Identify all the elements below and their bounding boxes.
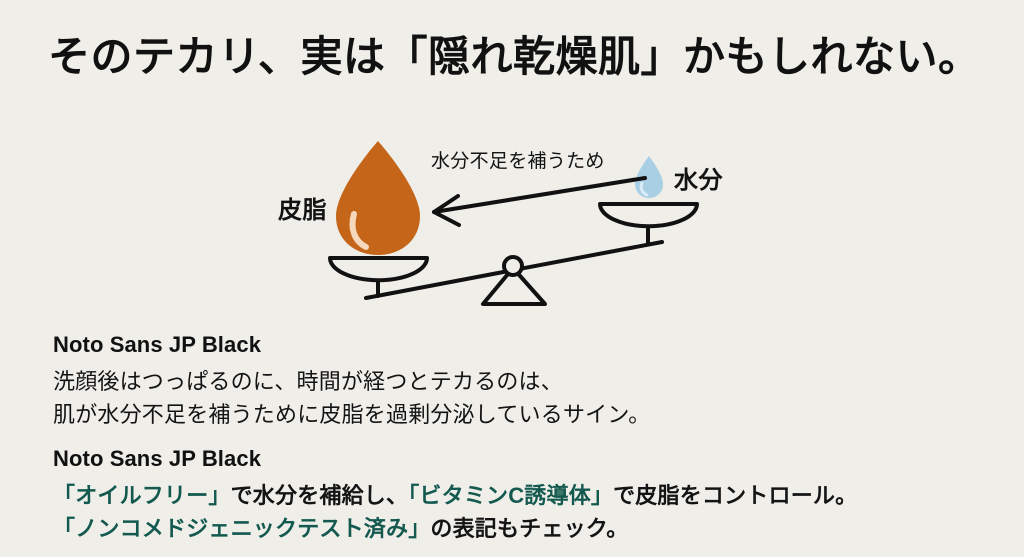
sebum-label: 皮脂 xyxy=(278,190,327,225)
highlighted-term: 「ビタミンC誘導体」 xyxy=(408,483,613,508)
content-block-2-line-1: 「オイルフリー」で水分を補給し、「ビタミンC誘導体」で皮脂をコントロール。 xyxy=(53,479,857,512)
sebum-droplet-icon xyxy=(336,141,420,255)
content-block-2: Noto Sans JP Black 「オイルフリー」で水分を補給し、「ビタミン… xyxy=(53,446,857,545)
moisture-label: 水分 xyxy=(674,160,723,195)
text-segment: で皮脂をコントロール。 xyxy=(613,483,857,508)
fulcrum-pivot xyxy=(504,257,522,275)
content-block-2-line-2: 「ノンコメドジェニックテスト済み」の表記もチェック。 xyxy=(53,512,857,545)
arrow-annotation-label: 水分不足を補うため xyxy=(431,146,605,173)
text-segment: 肌が水分不足を補うために皮脂を過剰分泌しているサイン。 xyxy=(53,402,650,427)
slide-canvas: そのテカリ、実は「隠れ乾燥肌」かもしれない。 xyxy=(0,0,1024,557)
page-title: そのテカリ、実は「隠れ乾燥肌」かもしれない。 xyxy=(48,32,988,82)
left-pan-bowl xyxy=(330,258,427,280)
content-block-1: Noto Sans JP Black 洗顔後はつっぱるのに、時間が経つとテカるの… xyxy=(53,332,650,431)
content-block-1-line-1: 洗顔後はつっぱるのに、時間が経つとテカるのは、 xyxy=(53,365,650,398)
right-pan-bowl xyxy=(600,204,697,226)
highlighted-term: 「オイルフリー」 xyxy=(53,483,231,508)
text-segment: 洗顔後はつっぱるのに、時間が経つとテカるのは、 xyxy=(53,369,563,394)
text-segment: の表記もチェック。 xyxy=(430,516,628,541)
content-block-1-heading: Noto Sans JP Black xyxy=(53,332,650,358)
content-block-1-line-2: 肌が水分不足を補うために皮脂を過剰分泌しているサイン。 xyxy=(53,398,650,431)
text-segment: で水分を補給し、 xyxy=(231,483,409,508)
highlighted-term: 「ノンコメドジェニックテスト済み」 xyxy=(53,516,430,541)
content-block-2-heading: Noto Sans JP Black xyxy=(53,446,857,472)
